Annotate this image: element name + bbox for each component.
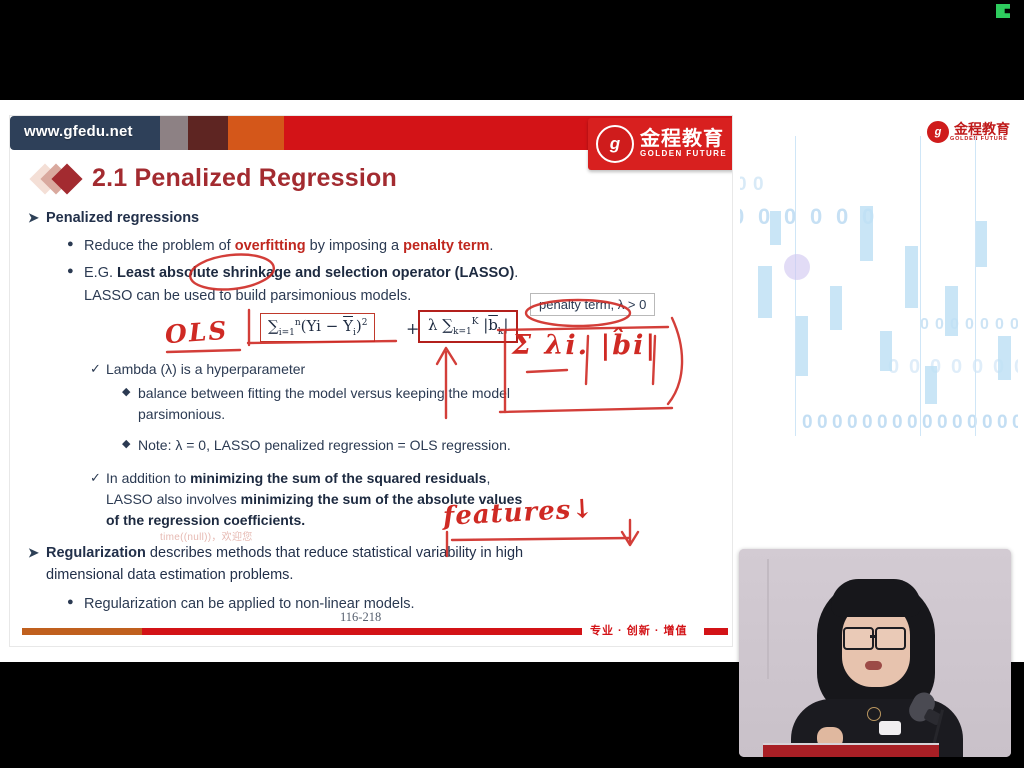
logo-english-name: GOLDEN FUTURE: [950, 136, 1010, 142]
deco-glow-dot: [784, 254, 810, 280]
deco-digit: 0: [907, 412, 918, 434]
footer-bar-orange: [22, 628, 142, 635]
text-penalty-term: penalty term: [403, 238, 489, 254]
deco-digit: 0: [877, 412, 888, 434]
dot-bullet-icon: ●: [67, 594, 74, 611]
text-regularization-rest: describes methods that reduce statistica…: [146, 545, 523, 561]
deco-digit: 0: [982, 412, 993, 434]
deco-guide-line: [795, 136, 796, 436]
presenter-necklace: [867, 707, 881, 721]
check-bullet-icon: ✓: [90, 359, 101, 379]
video-door-edge: [767, 559, 769, 679]
text-lasso-definition: Least absolute shrinkage and selection o…: [117, 265, 514, 281]
deco-brand-logo: g 金程教育 GOLDEN FUTURE: [926, 120, 1010, 144]
text-min-squared-residuals: minimizing the sum of the squared residu…: [190, 470, 486, 486]
bullet-label: Lambda (λ) is a hyperparameter: [106, 361, 305, 377]
brand-logo: g 金程教育 GOLDEN FUTURE: [588, 118, 732, 170]
deco-bar: [998, 336, 1011, 380]
slide-body: ➤ Penalized regressions ● Reduce the pro…: [10, 208, 732, 619]
diamond-bullet-icon: ◆: [122, 436, 130, 453]
text-pre: In addition to: [106, 470, 190, 486]
bullet-label: Penalized regressions: [46, 210, 199, 226]
deco-digit: 0: [836, 204, 848, 230]
header-block-orange: [228, 116, 284, 150]
deco-digit: 0: [952, 412, 963, 434]
arrow-bullet-icon: ➤: [28, 543, 39, 563]
logo-seal-icon: g: [926, 120, 950, 144]
screen-capture: www.gfedu.net g 金程教育 GOLDEN FUTURE 2.1 P…: [0, 0, 1024, 768]
deco-digit: 0: [740, 204, 744, 230]
deco-digit: 0: [862, 412, 873, 434]
bullet-penalized-regressions: ➤ Penalized regressions: [46, 208, 732, 230]
website-url: www.gfedu.net: [24, 123, 133, 140]
footer-bar-end: [704, 628, 728, 635]
formula-row: penalty term, λ > 0 ∑i=1n(Yi − Yi)2 + λ …: [10, 311, 732, 355]
slide-header-bar: www.gfedu.net g 金程教育 GOLDEN FUTURE: [10, 116, 732, 150]
deco-bar: [880, 331, 892, 371]
deco-bar: [925, 366, 937, 404]
deco-bar: [795, 316, 808, 376]
deco-digit: 0: [758, 204, 770, 230]
logo-chinese-name: 金程教育: [954, 122, 1010, 136]
diamond-bullet-icon: ◆: [122, 384, 130, 401]
deco-digit: 0: [817, 412, 828, 434]
bullet-label: Note: λ = 0, LASSO penalized regression …: [138, 437, 511, 453]
bullet-reduce-overfitting: ● Reduce the problem of overfitting by i…: [84, 235, 732, 257]
dot-bullet-icon: ●: [67, 263, 74, 280]
deco-bar: [770, 211, 781, 245]
page-title: 2.1 Penalized Regression: [92, 164, 397, 193]
deco-digit: 0: [810, 204, 822, 230]
deco-bar: [830, 286, 842, 330]
deco-digit: 0: [832, 412, 843, 434]
decorative-background-panel: g 金程教育 GOLDEN FUTURE 0000000000000000000…: [740, 116, 1018, 446]
text-line1: balance between fitting the model versus…: [138, 385, 510, 401]
text-overfitting: overfitting: [235, 238, 306, 254]
text-end: .: [489, 238, 493, 254]
deco-digit: 0: [920, 316, 929, 334]
deco-digit: 0: [922, 412, 933, 434]
text-regularization-line2: dimensional data estimation problems.: [46, 565, 732, 587]
deco-digit: 0: [995, 316, 1004, 334]
deco-digit: 0: [847, 412, 858, 434]
text-mid: by imposing a: [306, 238, 404, 254]
bullet-regularization: ➤ Regularization describes methods that …: [46, 543, 732, 587]
deco-bar: [860, 206, 873, 261]
deco-digit: 0: [753, 174, 764, 196]
presentation-slide: www.gfedu.net g 金程教育 GOLDEN FUTURE 2.1 P…: [10, 116, 732, 646]
presenter-video-tile[interactable]: [739, 549, 1011, 757]
screen-share-icon: [996, 4, 1010, 18]
deco-digit: 0: [935, 316, 944, 334]
deco-digit: 0: [937, 412, 948, 434]
deco-digit: 0: [802, 412, 813, 434]
deco-bar: [758, 266, 772, 318]
bullet-in-addition: ✓ In addition to minimizing the sum of t…: [106, 468, 732, 531]
deco-digit: 0: [1010, 316, 1018, 334]
text-regularization: Regularization: [46, 545, 146, 561]
bullet-note-lambda-zero: ◆ Note: λ = 0, LASSO penalized regressio…: [138, 435, 732, 456]
deco-digit: 0: [980, 316, 989, 334]
deco-digit: 0: [740, 174, 747, 196]
text-comma: ,: [486, 470, 490, 486]
presenter-mouth: [865, 661, 882, 670]
deco-digit: 0: [1014, 356, 1018, 379]
slide-title-row: 2.1 Penalized Regression: [34, 164, 397, 193]
dot-bullet-icon: ●: [67, 236, 74, 253]
check-bullet-icon: ✓: [90, 468, 101, 488]
bullet-lambda-hyperparameter: ✓ Lambda (λ) is a hyperparameter: [106, 359, 732, 380]
text-min-absolute-values: minimizing the sum of the absolute value…: [241, 491, 523, 507]
penalty-term-callout: penalty term, λ > 0: [530, 293, 655, 316]
logo-chinese-name: 金程教育: [640, 129, 727, 150]
text-lasso-involves: LASSO also involves: [106, 491, 241, 507]
presenter-glasses-right: [875, 627, 906, 650]
lectern: [763, 743, 939, 757]
text-pre: Reduce the problem of: [84, 238, 235, 254]
footer-bar-red: [142, 628, 582, 635]
page-number: 116-218: [340, 610, 381, 625]
deco-digit: 0: [892, 412, 903, 434]
bullet-balance-tradeoff: ◆ balance between fitting the model vers…: [138, 383, 732, 425]
text-eg: E.G.: [84, 265, 117, 281]
deco-guide-line: [920, 136, 921, 436]
logo-seal-icon: g: [596, 125, 634, 163]
presenter-badge: [879, 721, 901, 735]
text-line2: parsimonious.: [138, 404, 732, 425]
formula-rss-box: ∑i=1n(Yi − Yi)2: [260, 313, 375, 342]
presenter-glasses-bridge: [870, 635, 875, 638]
deco-bar: [975, 221, 987, 267]
deco-digit: 0: [1012, 412, 1018, 434]
session-watermark: time((null))，欢迎您: [160, 528, 253, 543]
presenter-glasses-left: [843, 627, 874, 650]
header-block-maroon: [188, 116, 228, 150]
deco-guide-line: [975, 136, 976, 436]
deco-bar: [905, 246, 918, 308]
text-regression-coefficients: of the regression coefficients.: [106, 512, 305, 528]
text-end: .: [514, 265, 518, 281]
deco-digit: 0: [951, 356, 962, 379]
deco-digit: 0: [972, 356, 983, 379]
presenter-bangs: [831, 579, 921, 617]
video-stage: www.gfedu.net g 金程教育 GOLDEN FUTURE 2.1 P…: [0, 100, 1024, 662]
arrow-bullet-icon: ➤: [28, 208, 39, 228]
deco-digit: 0: [965, 316, 974, 334]
deco-digit: 0: [909, 356, 920, 379]
deco-digit: 0: [997, 412, 1008, 434]
slide-footer: 116-218 专业 · 创新 · 增值: [10, 612, 732, 638]
logo-english-name: GOLDEN FUTURE: [640, 150, 727, 158]
deco-bar: [945, 286, 958, 336]
header-block-gray: [160, 116, 188, 150]
footer-tagline: 专业 · 创新 · 增值: [590, 622, 688, 638]
formula-penalty-box: λ ∑k=1K |bk|: [418, 310, 518, 343]
